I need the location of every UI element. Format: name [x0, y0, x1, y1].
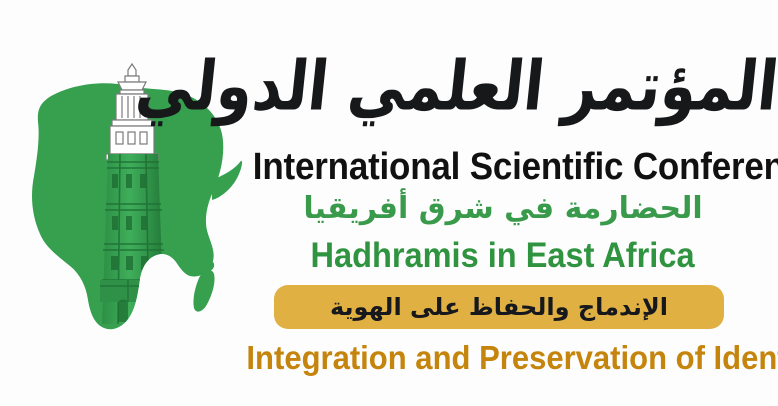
english-subtitle-text: Hadhramis in East Africa	[311, 236, 695, 276]
arabic-subtitle: الحضارمة في شرق أفريقيا	[228, 191, 778, 226]
english-headline: International Scientific Conference	[228, 146, 778, 189]
english-theme: Integration and Preservation of Identity	[228, 339, 778, 377]
arabic-headline-text: المؤتمر العلمي الدولي	[222, 25, 778, 148]
english-theme-text: Integration and Preservation of Identity	[246, 339, 778, 377]
english-subtitle: Hadhramis in East Africa	[228, 236, 778, 276]
english-headline-text: International Scientific Conference	[253, 146, 778, 189]
conference-logo-poster: المؤتمر العلمي الدولي International Scie…	[0, 0, 778, 406]
theme-banner: الإندماج والحفاظ على الهوية	[274, 285, 724, 329]
theme-banner-arabic-text: الإندماج والحفاظ على الهوية	[330, 293, 668, 321]
text-column: المؤتمر العلمي الدولي International Scie…	[228, 0, 778, 406]
arabic-subtitle-text: الحضارمة في شرق أفريقيا	[303, 191, 702, 226]
arabic-headline: المؤتمر العلمي الدولي	[228, 34, 778, 142]
